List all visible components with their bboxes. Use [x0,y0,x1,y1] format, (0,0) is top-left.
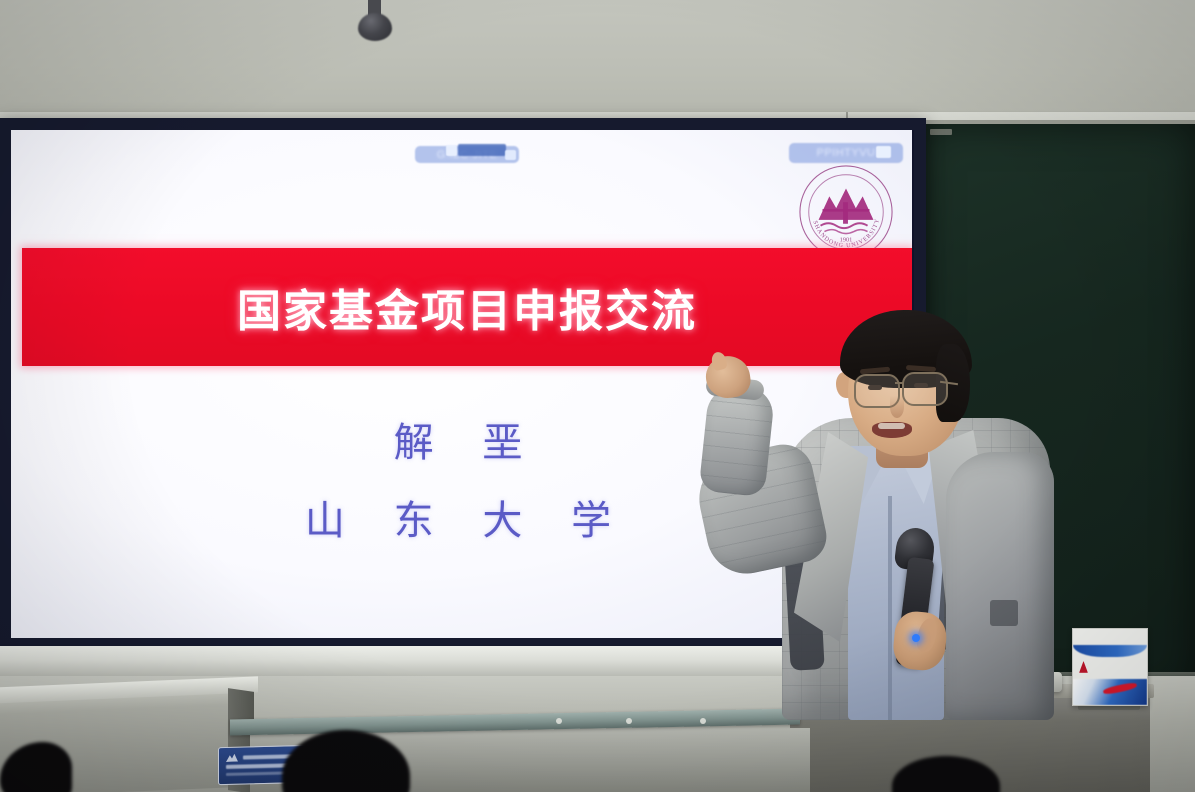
presenter-jacket-pocket [990,600,1018,626]
presenter-right-sleeve [946,452,1054,720]
presenter-shirt-placket [888,496,892,720]
rail-bolt [626,718,632,724]
overlay-chip-top-center-highlight [458,144,506,156]
overlay-edit-icon[interactable] [446,145,457,156]
presenter-teeth [878,423,905,429]
microphone-power-led-icon [912,634,920,642]
overlay-screen-share-icon[interactable] [876,146,891,158]
glasses-bridge [895,382,904,384]
svg-text:1901: 1901 [840,236,853,243]
rail-bolt [556,718,562,724]
glasses-lens-right-icon [902,372,948,406]
presenter-nose [890,396,904,418]
ceiling-camera-icon [358,13,392,41]
shandong-university-seal-icon: 1901 SHANDONG UNIVERSITY [797,163,895,261]
presenter-forearm-quilting [699,383,776,497]
screenshot-canvas: 1901 SHANDONG UNIVERSITY 国家基金项目申报交流 解 垩 … [0,0,1195,792]
chalkboard-clip [930,129,952,135]
overlay-chat-icon[interactable] [505,150,516,160]
presenter [690,300,1090,720]
plate-logo-icon [226,754,238,762]
